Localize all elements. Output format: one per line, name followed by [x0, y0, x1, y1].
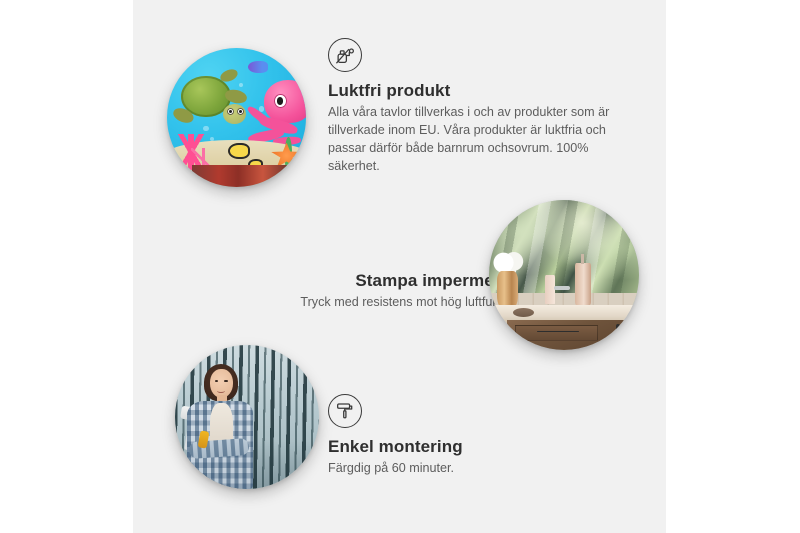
- woman-face: [210, 369, 233, 398]
- feature-description: Tryck med resistens mot hög luftfuktighe…: [213, 294, 533, 312]
- installer-photo-art: [175, 345, 319, 489]
- vanity-cabinet: [507, 320, 639, 350]
- image-bathroom-mural[interactable]: [489, 200, 639, 350]
- faucet: [554, 286, 571, 291]
- bubble-icon: [203, 126, 209, 132]
- feature-description: Färgdig på 60 minuter.: [328, 460, 608, 478]
- feature-description: Alla våra tavlor tillverkas i och av pro…: [328, 104, 628, 176]
- paint-roller-icon: [328, 394, 362, 428]
- no-perfume-icon: [328, 38, 362, 72]
- toiletry-bottle: [575, 263, 592, 305]
- gold-vase: [497, 271, 518, 310]
- feature-easy-mounting: Enkel montering Färgdig på 60 minuter.: [328, 394, 608, 478]
- soap-dish: [513, 308, 534, 317]
- screenshot-root: Luktfri produkt Alla våra tavlor tillver…: [0, 0, 800, 533]
- sea-foreground-strip: [192, 165, 306, 187]
- octopus-eye: [274, 94, 287, 108]
- image-installer-photo[interactable]: [175, 345, 319, 489]
- door-handle: [637, 324, 639, 338]
- feature-odourless: Luktfri produkt Alla våra tavlor tillver…: [328, 38, 628, 176]
- butterfly-fish: [228, 143, 250, 160]
- sea-mural-art: [167, 48, 306, 187]
- feature-title: Stampa impermeabile: [213, 270, 533, 291]
- feature-panel: Luktfri produkt Alla våra tavlor tillver…: [133, 0, 666, 533]
- door-handle: [616, 324, 620, 338]
- purple-fish: [248, 61, 269, 74]
- image-sea-mural[interactable]: [167, 48, 306, 187]
- cabinet-drawer: [515, 325, 598, 341]
- woman-eye: [224, 380, 228, 383]
- feature-waterproof: Stampa impermeabile Tryck med resistens …: [213, 228, 533, 312]
- feature-title: Luktfri produkt: [328, 80, 628, 101]
- toiletry-bottle: [545, 275, 556, 304]
- feature-title: Enkel montering: [328, 436, 608, 457]
- bathroom-mural-art: [489, 200, 639, 350]
- woman-smile: [217, 388, 226, 393]
